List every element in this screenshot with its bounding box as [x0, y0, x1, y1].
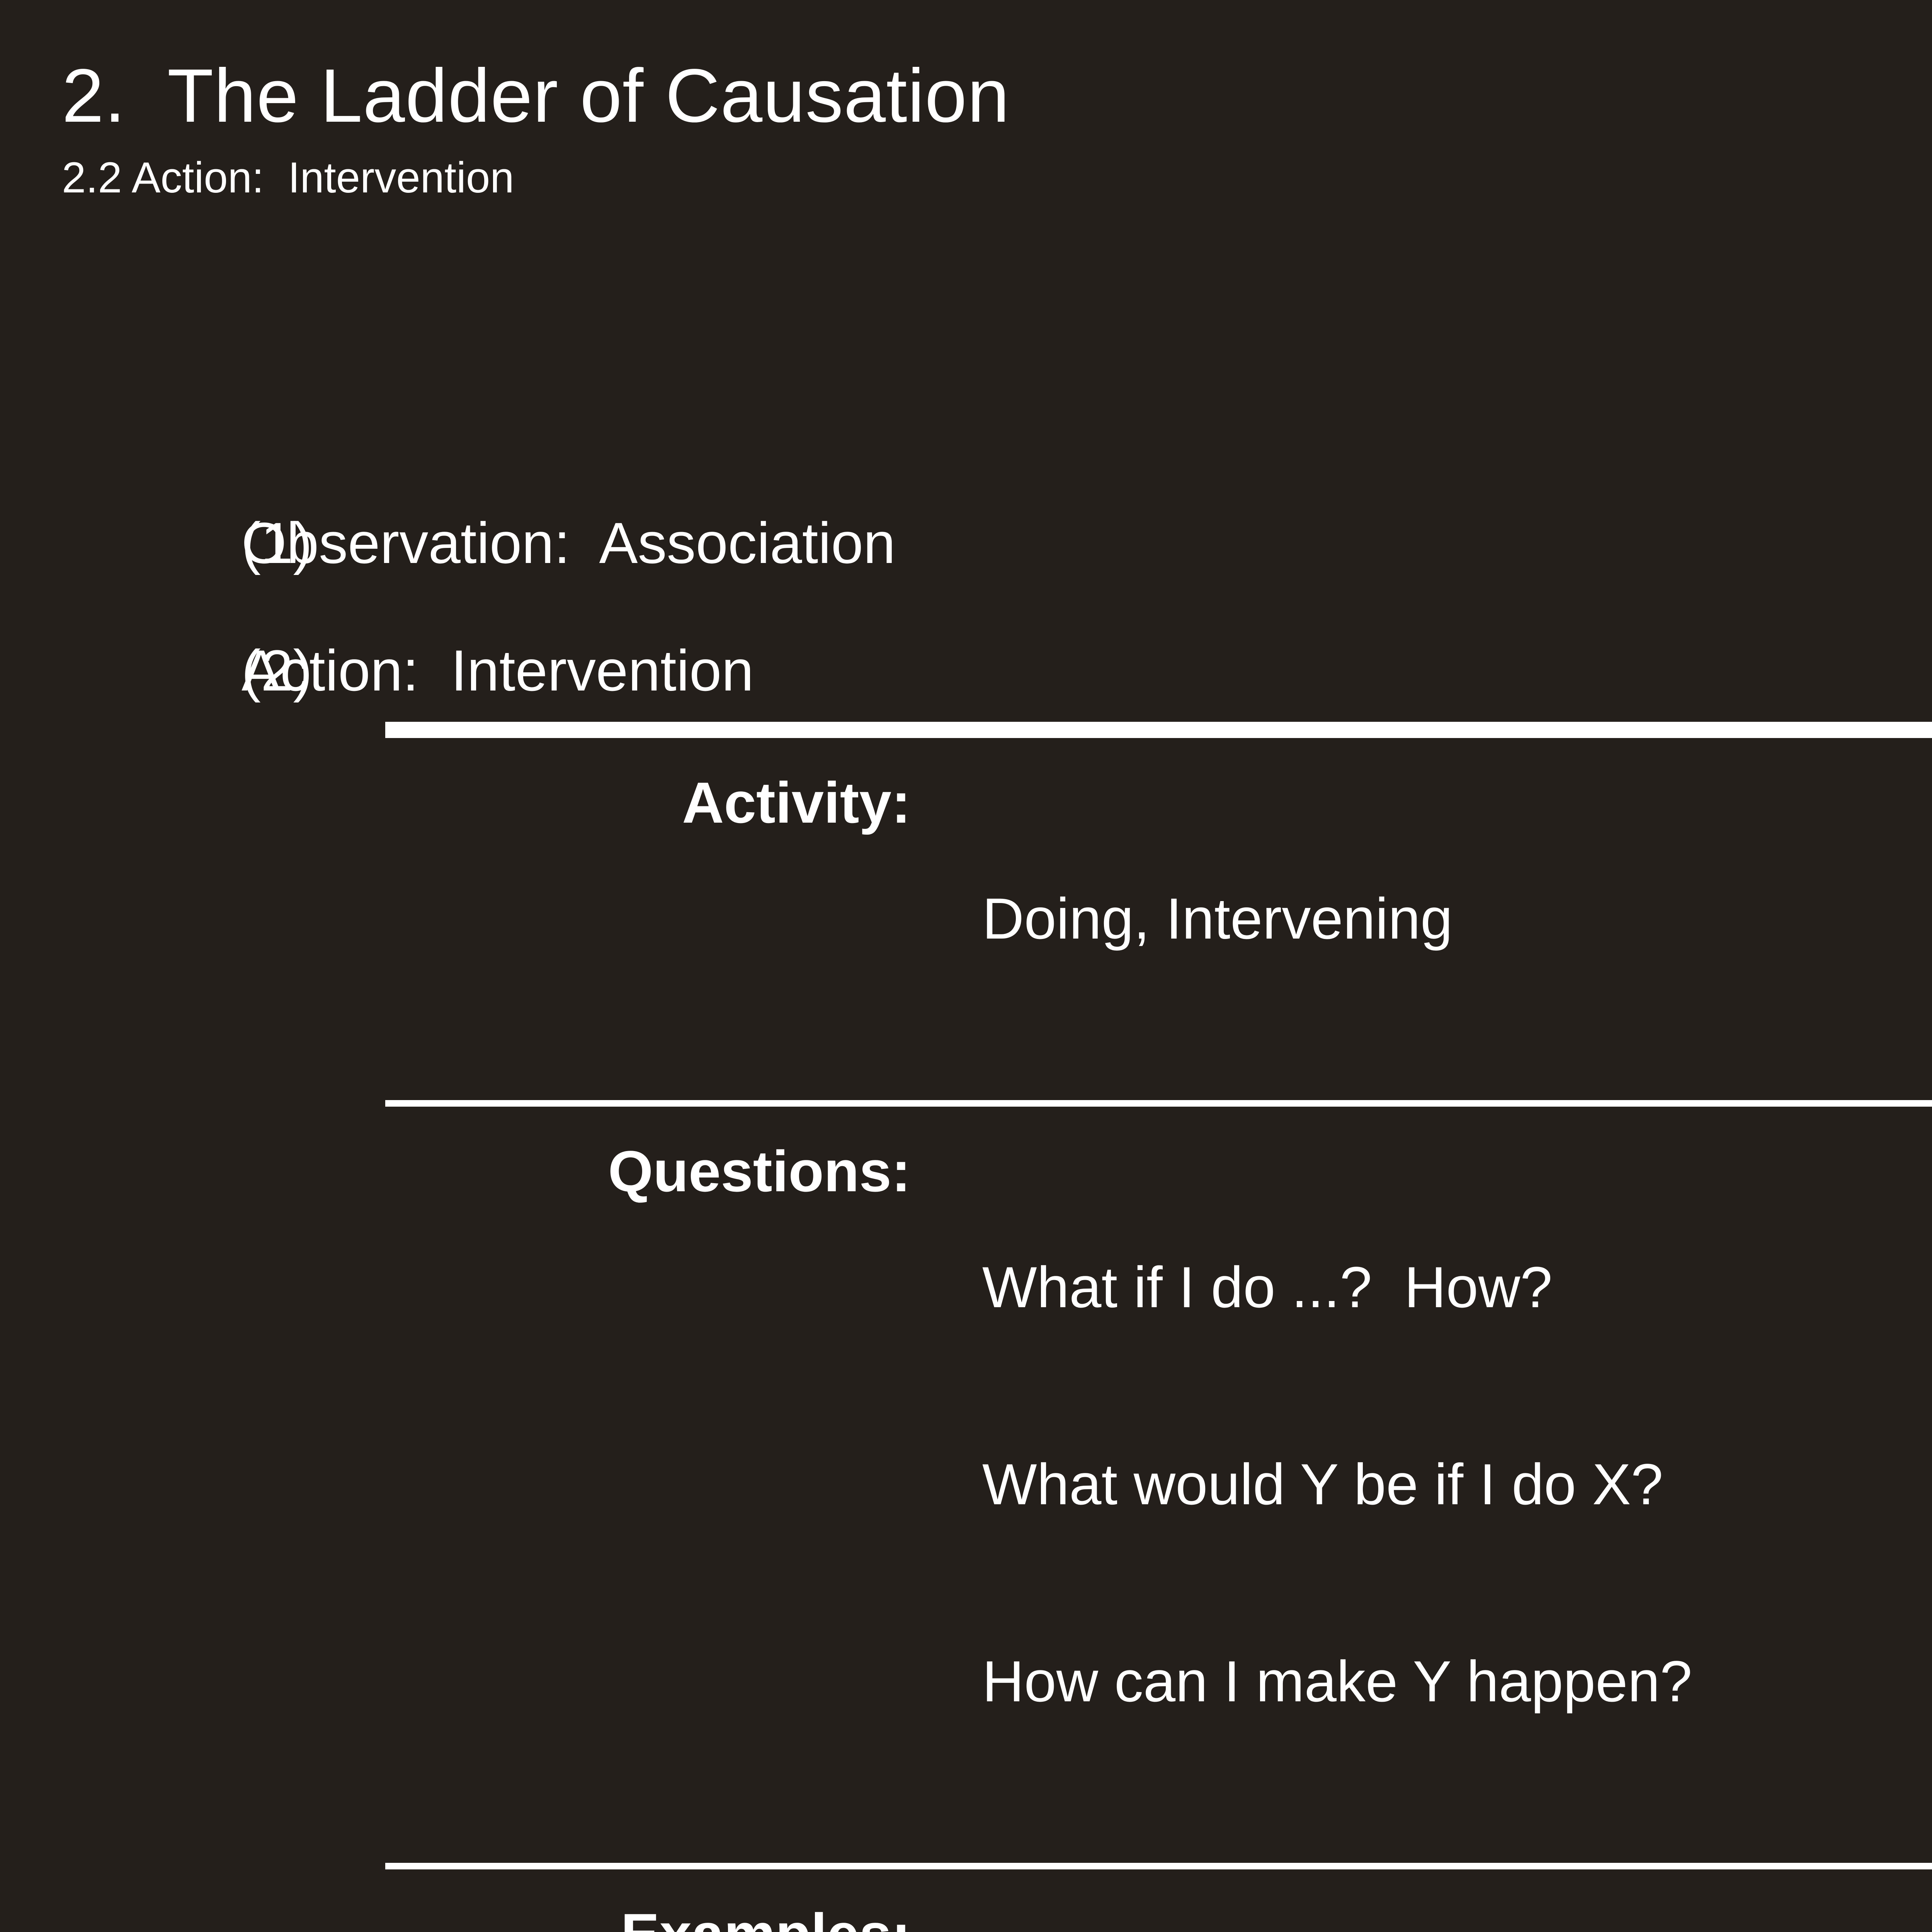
ladder-table: Activity: Doing, Intervening Questions: … [385, 722, 1932, 1932]
table-cell-line: How can I make Y happen? [982, 1652, 1692, 1710]
table-cell-line: Doing, Intervening [982, 889, 1452, 947]
slide-header: 2. The Ladder of Causation 2.2 Action: I… [62, 58, 1932, 199]
table-row-label: Questions: [385, 1142, 911, 1200]
table-row-value: Doing, Intervening [911, 774, 1452, 1063]
list-item-action: (2) Action: Intervention [0, 641, 1932, 699]
table-top-rule [385, 722, 1932, 738]
list-item-label: Observation: Association [241, 514, 896, 572]
slide-content: (1) Observation: Association (2) Action:… [0, 514, 1932, 1932]
list-item-label: Action: Intervention [241, 641, 754, 699]
list-item-observation: (1) Observation: Association [0, 514, 1932, 572]
table-mid-rule-2 [385, 1863, 1932, 1869]
list-marker: (2) [0, 641, 241, 699]
table-row-value: If I take aspirin, will my headache be c… [911, 1905, 1932, 1932]
table-row-questions: Questions: What if I do ...? How? What w… [385, 1107, 1932, 1863]
page-subtitle: 2.2 Action: Intervention [62, 156, 1932, 199]
table-row-value: What if I do ...? How? What would Y be i… [911, 1142, 1692, 1826]
table-cell-line: What would Y be if I do X? [982, 1455, 1692, 1513]
table-row-label: Examples: [385, 1905, 911, 1932]
table-row-activity: Activity: Doing, Intervening [385, 738, 1932, 1100]
page-title: 2. The Ladder of Causation [62, 58, 1932, 134]
table-row-examples: Examples: If I take aspirin, will my hea… [385, 1869, 1932, 1932]
list-marker: (1) [0, 514, 241, 572]
table-mid-rule-1 [385, 1100, 1932, 1107]
table-row-label: Activity: [385, 774, 911, 832]
table-cell-line: What if I do ...? How? [982, 1258, 1692, 1316]
